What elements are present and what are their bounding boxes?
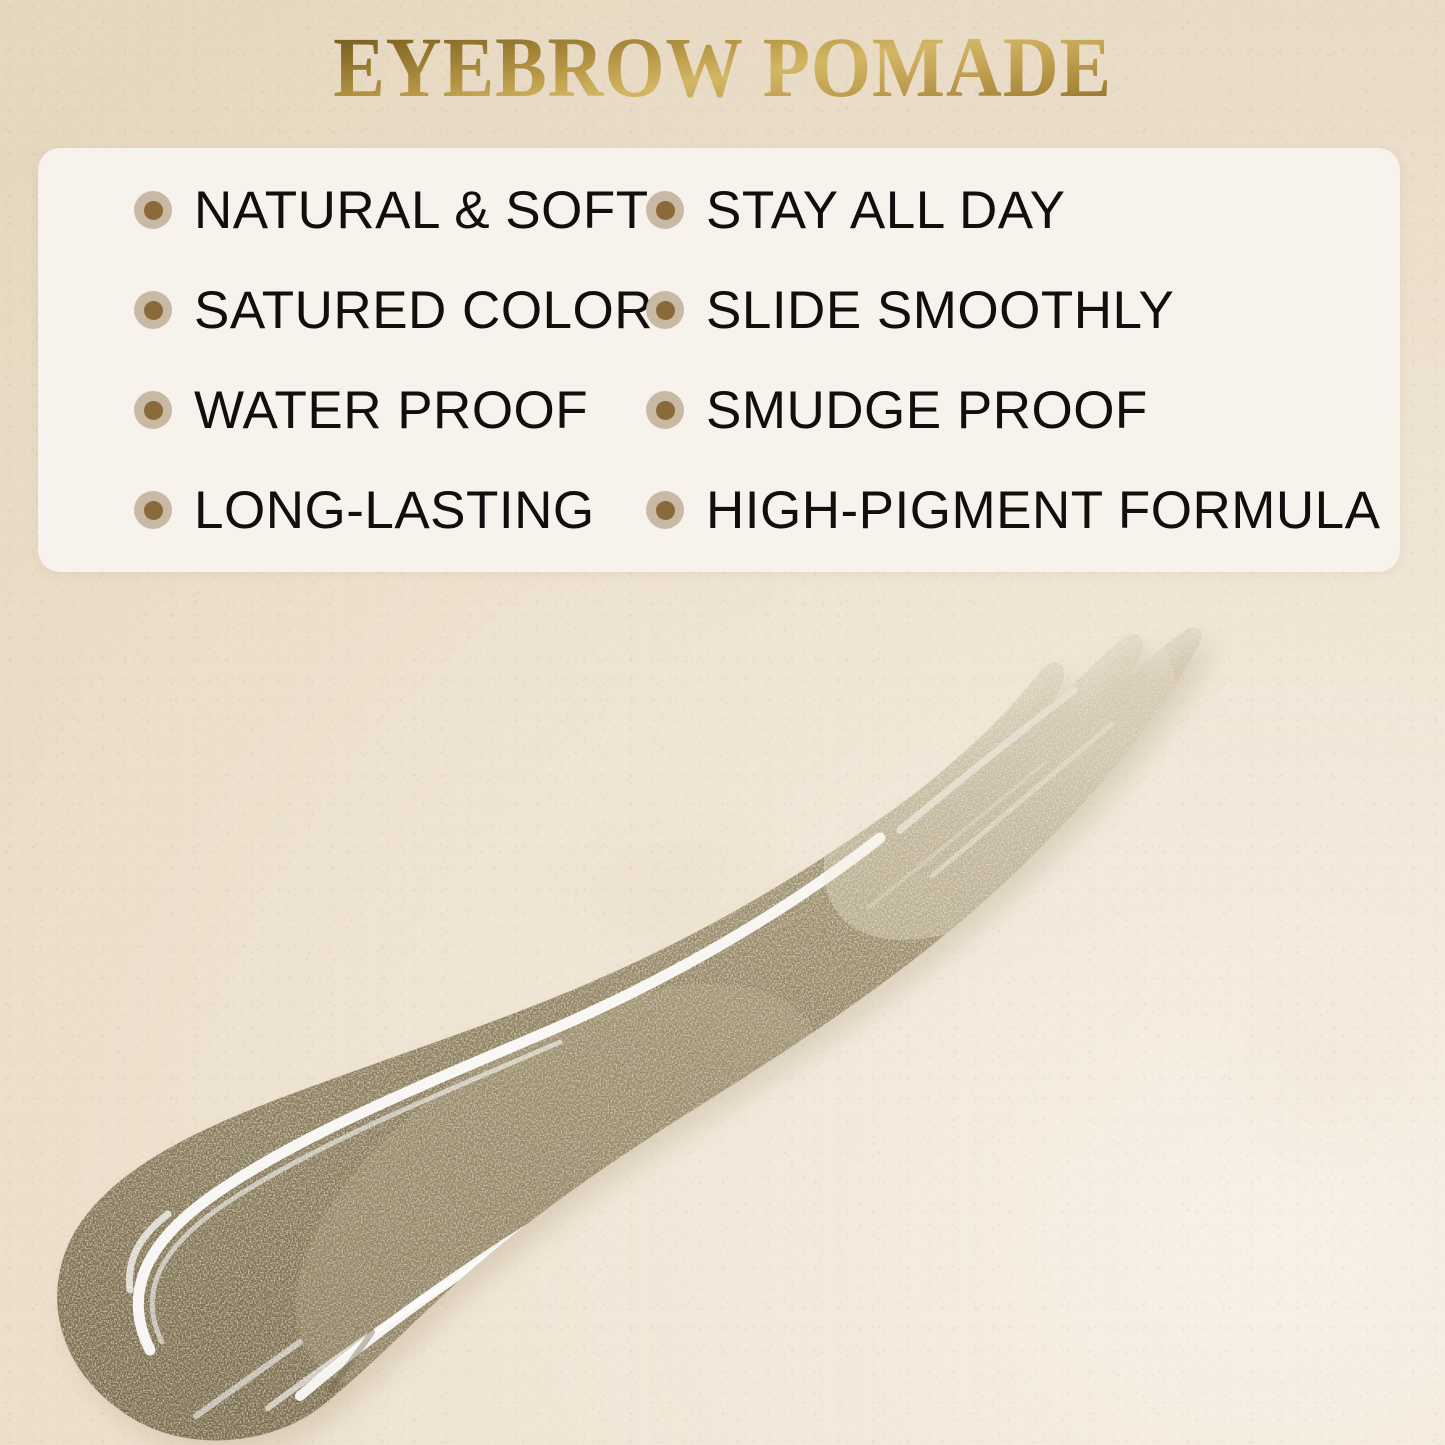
filled-circle-bullet-icon — [646, 491, 684, 529]
filled-circle-bullet-icon — [134, 391, 172, 429]
filled-circle-bullet-icon — [646, 191, 684, 229]
feature-label: SLIDE SMOOTHLY — [706, 284, 1174, 337]
feature-label: WATER PROOF — [194, 384, 588, 437]
feature-item-smudge-proof: SMUDGE PROOF — [628, 360, 1400, 460]
feature-label: LONG-LASTING — [194, 484, 595, 537]
filled-circle-bullet-icon — [134, 291, 172, 329]
product-swatch-area — [0, 590, 1445, 1445]
feature-item-high-pigment-formula: HIGH-PIGMENT FORMULA — [628, 460, 1400, 560]
swatch-texture-group — [0, 590, 1445, 1445]
feature-item-satured-color: SATURED COLOR — [38, 260, 628, 360]
title-container: EYEBROW POMADE — [0, 24, 1445, 110]
feature-item-stay-all-day: STAY ALL DAY — [628, 160, 1400, 260]
feature-label: SATURED COLOR — [194, 284, 653, 337]
filled-circle-bullet-icon — [646, 391, 684, 429]
feature-label: NATURAL & SOFT — [194, 184, 649, 237]
swatch-body-group — [0, 590, 1445, 1445]
feature-item-water-proof: WATER PROOF — [38, 360, 628, 460]
feature-item-slide-smoothly: SLIDE SMOOTHLY — [628, 260, 1400, 360]
feature-grid: NATURAL & SOFT STAY ALL DAY SATURED COLO… — [38, 148, 1400, 572]
filled-circle-bullet-icon — [134, 191, 172, 229]
page-title: EYEBROW POMADE — [333, 24, 1112, 110]
feature-item-natural-and-soft: NATURAL & SOFT — [38, 160, 628, 260]
eyebrow-pomade-smear-swatch — [0, 590, 1445, 1445]
feature-label: HIGH-PIGMENT FORMULA — [706, 484, 1381, 537]
filled-circle-bullet-icon — [646, 291, 684, 329]
feature-label: STAY ALL DAY — [706, 184, 1066, 237]
feature-list-card: NATURAL & SOFT STAY ALL DAY SATURED COLO… — [38, 148, 1400, 572]
product-feature-graphic: EYEBROW POMADE NATURAL & SOFT STAY ALL D… — [0, 0, 1445, 1445]
feature-item-long-lasting: LONG-LASTING — [38, 460, 628, 560]
feature-label: SMUDGE PROOF — [706, 384, 1148, 437]
filled-circle-bullet-icon — [134, 491, 172, 529]
